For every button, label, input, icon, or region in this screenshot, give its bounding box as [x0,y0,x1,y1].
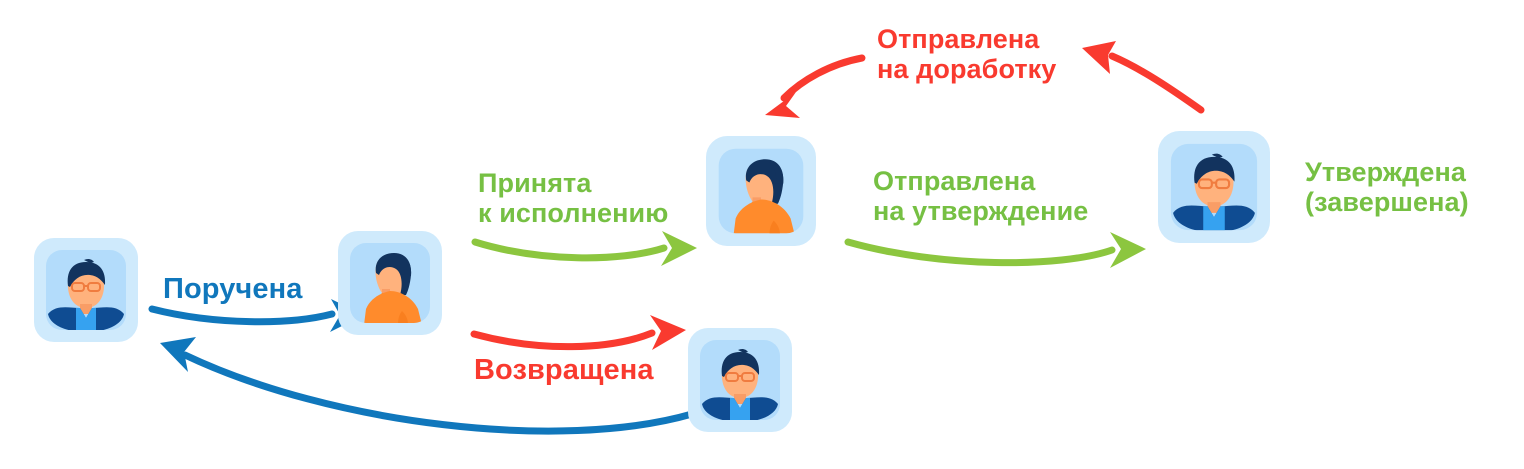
label-na-dorabotku: Отправлена на доработку [877,24,1056,84]
arrow-prinyata [475,231,697,266]
avatar-female-executor[interactable] [338,231,442,335]
avatar-female-executor[interactable] [706,136,816,246]
arrow-dorabotku-out [765,58,862,118]
label-prinyata: Принята к исполнению [478,168,668,228]
avatar-male-approver[interactable] [1158,131,1270,243]
label-utverzhdena: Утверждена (завершена) [1305,157,1469,217]
arrow-dorabotku-in [1082,41,1201,110]
arrow-na-utverzhdenie [848,232,1146,268]
label-na-utverzhdenie: Отправлена на утверждение [873,166,1088,226]
label-poruchena: Поручена [163,273,302,305]
label-vozvrashena: Возвращена [474,354,654,386]
avatar-male-author[interactable] [34,238,138,342]
arrow-vozvrashena [474,315,686,350]
avatar-male-executor[interactable] [688,328,792,432]
workflow-diagram: Поручена Принята к исполнению Возвращена… [0,0,1524,469]
